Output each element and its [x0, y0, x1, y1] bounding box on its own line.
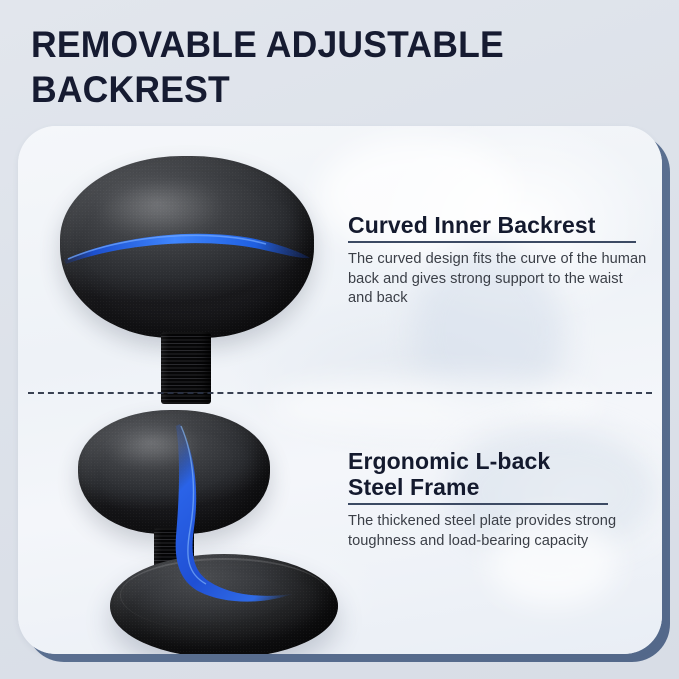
feature-block-ergonomic-l-back-steel-frame: Ergonomic L-back Steel Frame The thicken… [348, 448, 648, 551]
feature-title: Ergonomic L-back Steel Frame [348, 448, 550, 500]
dashed-divider [28, 392, 652, 394]
feature-body: The thickened steel plate provides stron… [348, 512, 648, 551]
backrest-cushion-illustration [42, 136, 332, 386]
feature-title: Curved Inner Backrest [348, 212, 596, 238]
page-title: REMOVABLE ADJUSTABLE BACKREST [31, 22, 607, 112]
title-underline [348, 241, 636, 243]
title-underline [348, 503, 608, 505]
feature-body: The curved design fits the curve of the … [348, 250, 648, 309]
page-background: REMOVABLE ADJUSTABLE BACKREST [0, 0, 679, 679]
feature-block-curved-inner-backrest: Curved Inner Backrest The curved design … [348, 212, 648, 309]
feature-card: Curved Inner Backrest The curved design … [18, 126, 662, 654]
blue-curve-accent-top [60, 156, 314, 338]
chair-assembly-illustration [68, 402, 368, 642]
blue-l-curve-accent [68, 402, 368, 642]
